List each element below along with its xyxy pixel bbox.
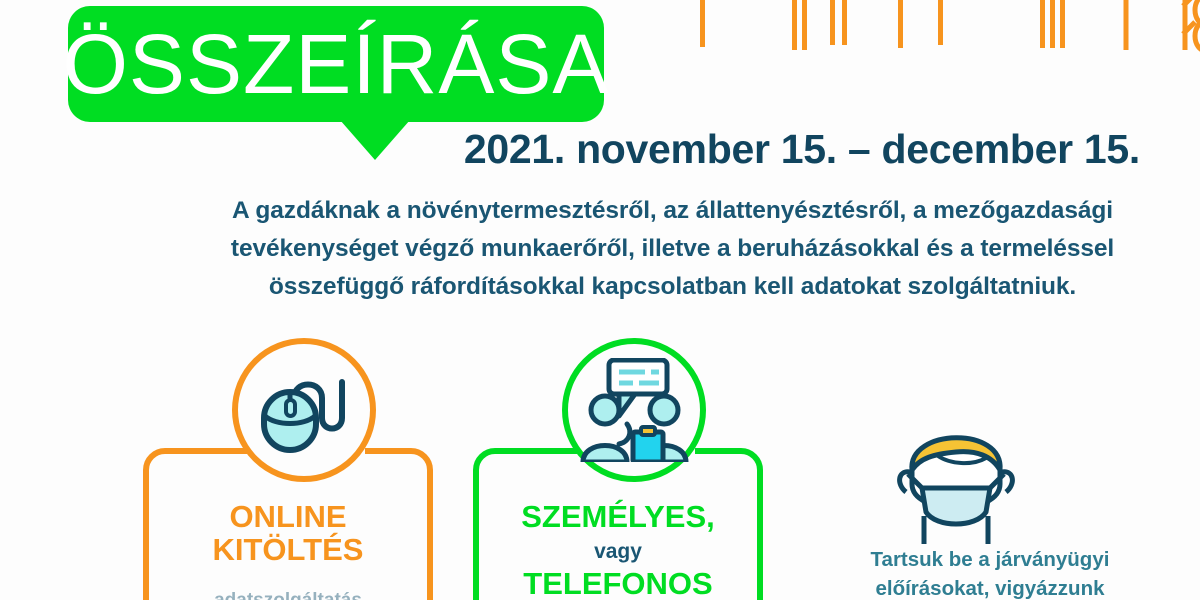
stalk-line [802, 0, 807, 50]
stalk-line [700, 0, 705, 47]
computer-mouse-icon [252, 364, 356, 456]
date-range: 2021. november 15. – december 15. [200, 126, 1140, 173]
stalk-line [792, 0, 797, 50]
card-personal-label-line2: TELEFONOS [473, 567, 763, 600]
stalk-line [1050, 0, 1055, 48]
stalk-line [1060, 0, 1065, 48]
card-online-label-line1: ONLINE [229, 499, 346, 534]
page-title: ÖSSZEÍRÁSA [68, 6, 604, 122]
icon-circle-personal [562, 338, 706, 482]
two-people-interview-icon [575, 358, 693, 462]
icon-circle-online [232, 338, 376, 482]
wheat-stalks-decoration [690, 0, 1120, 55]
stalk-line [938, 0, 943, 45]
paragraph-line-2: tevékenységet végző munkaerőről, illetve… [195, 230, 1150, 268]
card-online-label-line2: KITÖLTÉS [213, 532, 364, 567]
safety-note-line1: Tartsuk be a járványügyi [790, 545, 1190, 574]
stalk-line [842, 0, 847, 45]
safety-note-line2: előírásokat, vigyázzunk [790, 574, 1190, 600]
safety-note: Tartsuk be a járványügyi előírásokat, vi… [790, 545, 1190, 600]
stalk-line [898, 0, 903, 48]
title-speech-bubble: ÖSSZEÍRÁSA [68, 6, 604, 122]
body-paragraph: A gazdáknak a növénytermesztésről, az ál… [195, 192, 1150, 306]
masked-person-illustration [872, 412, 1042, 544]
card-online-sublabel: adatszolgáltatás [143, 591, 433, 600]
stalk-line [830, 0, 835, 45]
paragraph-line-1: A gazdáknak a növénytermesztésről, az ál… [195, 192, 1150, 230]
stalk-line [1040, 0, 1045, 48]
card-online-label: ONLINE KITÖLTÉS [143, 500, 433, 567]
sprout-icon [1098, 0, 1154, 52]
infographic-canvas: ÖSSZEÍRÁSA 2021. november 15. – december… [0, 0, 1200, 600]
wheat-ear-icon [1175, 0, 1200, 52]
card-personal-label-line1: SZEMÉLYES, [473, 500, 763, 533]
paragraph-line-3: összefüggő ráfordításokkal kapcsolatban … [195, 268, 1150, 306]
card-personal-label-or: vagy [473, 541, 763, 564]
